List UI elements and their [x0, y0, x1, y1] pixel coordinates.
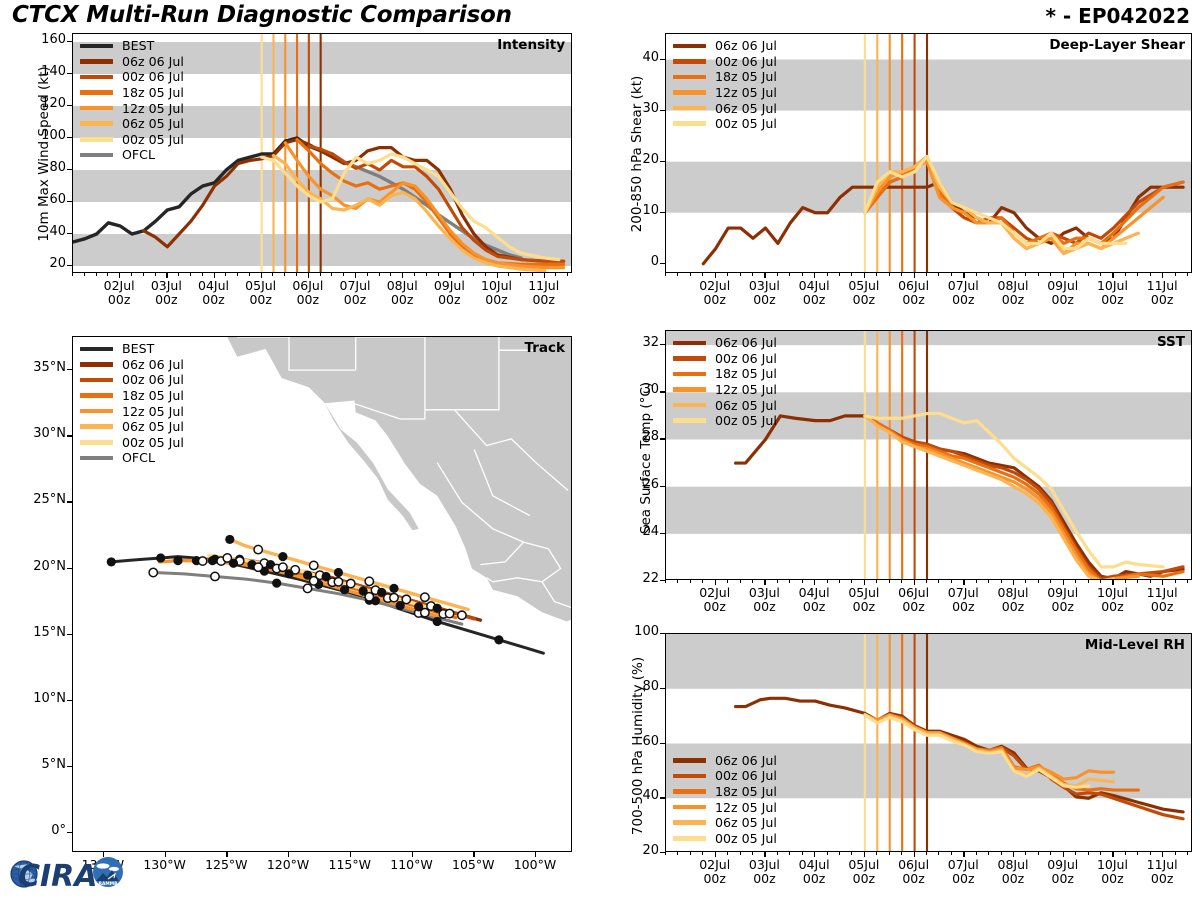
legend-label: BEST: [122, 38, 154, 53]
y-tick-label: 10: [619, 203, 659, 218]
x-minor-tick: [752, 852, 753, 855]
x-minor-tick: [864, 852, 865, 855]
legend-color-swatch: [80, 440, 113, 445]
x-minor-tick: [485, 273, 486, 276]
value-band: [73, 170, 572, 202]
legend-label: 12z 05 Jul: [122, 404, 184, 419]
x-minor-tick: [1187, 580, 1188, 583]
legend-item: 06z 05 Jul: [673, 100, 777, 116]
x-minor-tick: [320, 273, 321, 276]
x-tick-label: 11Jul00z: [1132, 279, 1192, 307]
x-minor-tick: [532, 273, 533, 276]
track-marker-00z: [173, 556, 182, 565]
legend-color-swatch: [673, 418, 706, 423]
legend-item: 00z 06 Jul: [80, 372, 184, 388]
legend-color-swatch: [673, 805, 706, 810]
legend-color-swatch: [80, 90, 113, 95]
x-minor-tick: [1175, 273, 1176, 276]
x-minor-tick: [131, 273, 132, 276]
x-minor-tick: [690, 273, 691, 276]
legend-item: 00z 06 Jul: [673, 768, 777, 784]
track-x-tick-mark: [288, 852, 289, 857]
x-minor-tick: [1187, 852, 1188, 855]
x-minor-tick: [951, 580, 952, 583]
x-minor-tick: [178, 273, 179, 276]
track-marker-12z: [310, 577, 318, 585]
x-minor-tick: [740, 273, 741, 276]
x-minor-tick: [839, 852, 840, 855]
legend-label: 12z 05 Jul: [715, 382, 777, 397]
legend-label: 00z 05 Jul: [715, 831, 777, 846]
legend-color-swatch: [673, 820, 706, 825]
legend-item: 18z 05 Jul: [673, 784, 777, 800]
track-x-tick-mark: [473, 852, 474, 857]
x-minor-tick: [1025, 580, 1026, 583]
x-minor-tick: [1162, 273, 1163, 276]
x-minor-tick: [926, 580, 927, 583]
x-minor-tick: [876, 580, 877, 583]
x-minor-tick: [390, 273, 391, 276]
panel-sst: SST 06z 06 Jul00z 06 Jul18z 05 Jul12z 05…: [665, 330, 1192, 580]
x-minor-tick: [827, 273, 828, 276]
x-minor-tick: [497, 273, 498, 276]
track-x-tick-mark: [165, 852, 166, 857]
legend-item: 18z 05 Jul: [673, 366, 777, 382]
y-tick-mark: [67, 201, 72, 202]
x-minor-tick: [237, 273, 238, 276]
track-x-tick-label: 100°W: [503, 858, 567, 872]
cira-wordmark: CIRA: [18, 859, 98, 894]
legend-color-swatch: [673, 789, 706, 794]
x-minor-tick: [1100, 580, 1101, 583]
x-minor-tick: [876, 273, 877, 276]
x-minor-tick: [851, 273, 852, 276]
legend-label: 00z 05 Jul: [122, 435, 184, 450]
y-tick-label: 40: [619, 50, 659, 65]
legend-item: 18z 05 Jul: [80, 85, 184, 101]
track-y-tick-mark: [67, 369, 72, 370]
x-tick-label: 11Jul00z: [514, 279, 574, 307]
x-minor-tick: [976, 273, 977, 276]
legend-item: 00z 05 Jul: [80, 132, 184, 148]
x-minor-tick: [814, 580, 815, 583]
x-minor-tick: [1050, 273, 1051, 276]
y-tick-mark: [660, 263, 665, 264]
y-tick-label: 30: [619, 382, 659, 397]
rh-title: Mid-Level RH: [1085, 637, 1185, 653]
y-tick-label: 26: [619, 477, 659, 492]
legend-label: 12z 05 Jul: [715, 800, 777, 815]
x-minor-tick: [777, 273, 778, 276]
x-minor-tick: [1013, 273, 1014, 276]
legend-label: 00z 06 Jul: [715, 768, 777, 783]
legend-color-swatch: [673, 387, 706, 392]
track-y-tick-label: 5°N: [20, 757, 66, 772]
track-y-tick-label: 10°N: [20, 691, 66, 706]
x-minor-tick: [1150, 852, 1151, 855]
x-minor-tick: [764, 852, 765, 855]
x-minor-tick: [889, 580, 890, 583]
legend-item: 06z 06 Jul: [80, 54, 184, 70]
x-minor-tick: [690, 580, 691, 583]
legend-label: 12z 05 Jul: [715, 85, 777, 100]
legend-color-swatch: [80, 362, 113, 367]
legend-color-swatch: [673, 403, 706, 408]
y-tick-mark: [660, 438, 665, 439]
track-marker-12z: [310, 561, 318, 569]
x-minor-tick: [889, 273, 890, 276]
x-minor-tick: [963, 580, 964, 583]
x-minor-tick: [988, 852, 989, 855]
x-minor-tick: [752, 273, 753, 276]
y-tick-label: 22: [619, 571, 659, 586]
legend-color-swatch: [673, 836, 706, 841]
legend-item: 06z 05 Jul: [673, 397, 777, 413]
legend-label: 06z 06 Jul: [122, 54, 184, 69]
x-minor-tick: [1075, 580, 1076, 583]
legend-item: 18z 05 Jul: [80, 388, 184, 404]
x-minor-tick: [1001, 852, 1002, 855]
track-marker-12z: [223, 554, 231, 562]
x-minor-tick: [1137, 852, 1138, 855]
shear-title: Deep-Layer Shear: [1049, 37, 1185, 53]
legend-label: BEST: [122, 341, 154, 356]
x-minor-tick: [764, 273, 765, 276]
y-tick-label: 160: [26, 32, 66, 47]
legend-label: 06z 05 Jul: [122, 419, 184, 434]
x-minor-tick: [864, 580, 865, 583]
x-minor-tick: [1025, 273, 1026, 276]
track-y-tick-label: 15°N: [20, 625, 66, 640]
track-marker-12z: [279, 563, 287, 571]
x-minor-tick: [963, 273, 964, 276]
legend-label: 00z 05 Jul: [122, 132, 184, 147]
y-tick-mark: [67, 105, 72, 106]
x-minor-tick: [343, 273, 344, 276]
track-marker-00z: [225, 535, 234, 544]
x-minor-tick: [988, 273, 989, 276]
track-x-tick-label: 120°W: [256, 858, 320, 872]
legend-label: OFCL: [122, 450, 155, 465]
legend-color-swatch: [80, 393, 113, 398]
track-marker-12z: [421, 608, 429, 616]
y-tick-mark: [660, 391, 665, 392]
legend-item: 06z 06 Jul: [673, 38, 777, 54]
legend-label: 06z 05 Jul: [715, 815, 777, 830]
track-y-tick-label: 0°: [20, 823, 66, 838]
legend-item: 06z 05 Jul: [80, 419, 184, 435]
x-minor-tick: [702, 852, 703, 855]
cira-logo: CIRA RAMMB: [4, 848, 130, 896]
legend-label: 06z 05 Jul: [715, 101, 777, 116]
x-tick-label: 11Jul00z: [1132, 586, 1192, 614]
legend-color-swatch: [673, 121, 706, 126]
y-tick-mark: [67, 169, 72, 170]
track-y-tick-mark: [67, 435, 72, 436]
y-tick-mark: [660, 533, 665, 534]
y-tick-label: 30: [619, 101, 659, 116]
track-y-tick-mark: [67, 634, 72, 635]
legend-item: 18z 05 Jul: [673, 69, 777, 85]
track-marker-00z: [278, 552, 287, 561]
x-tick-label: 11Jul00z: [1132, 858, 1192, 886]
legend-color-swatch: [80, 137, 113, 142]
x-minor-tick: [914, 852, 915, 855]
x-minor-tick: [544, 273, 545, 276]
x-minor-tick: [166, 273, 167, 276]
x-minor-tick: [702, 580, 703, 583]
y-tick-mark: [660, 59, 665, 60]
x-minor-tick: [914, 273, 915, 276]
y-tick-mark: [660, 486, 665, 487]
x-minor-tick: [802, 580, 803, 583]
legend-label: OFCL: [122, 147, 155, 162]
x-minor-tick: [355, 273, 356, 276]
x-minor-tick: [988, 580, 989, 583]
x-minor-tick: [727, 580, 728, 583]
legend-label: 18z 05 Jul: [122, 388, 184, 403]
x-minor-tick: [1137, 273, 1138, 276]
y-tick-label: 100: [26, 128, 66, 143]
x-minor-tick: [789, 852, 790, 855]
x-minor-tick: [814, 852, 815, 855]
track-marker-12z: [445, 609, 453, 617]
legend-color-swatch: [80, 347, 113, 352]
legend-label: 06z 05 Jul: [715, 398, 777, 413]
legend-label: 00z 06 Jul: [715, 351, 777, 366]
sst-legend: 06z 06 Jul00z 06 Jul18z 05 Jul12z 05 Jul…: [673, 335, 777, 429]
y-tick-label: 80: [26, 160, 66, 175]
track-marker-00z: [107, 557, 116, 566]
legend-label: 06z 06 Jul: [715, 38, 777, 53]
track-y-tick-mark: [67, 501, 72, 502]
track-y-tick-mark: [67, 568, 72, 569]
x-minor-tick: [107, 273, 108, 276]
x-minor-tick: [155, 273, 156, 276]
x-minor-tick: [1038, 273, 1039, 276]
y-tick-mark: [67, 73, 72, 74]
legend-label: 18z 05 Jul: [715, 784, 777, 799]
legend-color-swatch: [80, 409, 113, 414]
legend-item: 12z 05 Jul: [673, 85, 777, 101]
legend-label: 18z 05 Jul: [715, 366, 777, 381]
legend-label: 12z 05 Jul: [122, 101, 184, 116]
track-marker-12z: [390, 593, 398, 601]
legend-color-swatch: [673, 44, 706, 49]
x-minor-tick: [284, 273, 285, 276]
x-minor-tick: [1100, 273, 1101, 276]
x-minor-tick: [1088, 852, 1089, 855]
y-tick-label: 20: [619, 152, 659, 167]
x-minor-tick: [1050, 580, 1051, 583]
x-minor-tick: [202, 273, 203, 276]
legend-item: 06z 06 Jul: [80, 357, 184, 373]
y-tick-mark: [660, 344, 665, 345]
x-minor-tick: [1075, 273, 1076, 276]
x-minor-tick: [802, 852, 803, 855]
track-y-tick-label: 35°N: [20, 360, 66, 375]
x-minor-tick: [1063, 580, 1064, 583]
x-minor-tick: [1025, 852, 1026, 855]
y-tick-mark: [660, 743, 665, 744]
x-minor-tick: [690, 852, 691, 855]
x-minor-tick: [1125, 580, 1126, 583]
x-minor-tick: [473, 273, 474, 276]
legend-item: BEST: [80, 38, 184, 54]
x-minor-tick: [438, 273, 439, 276]
intensity-legend: BEST06z 06 Jul00z 06 Jul18z 05 Jul12z 05…: [80, 38, 184, 163]
svg-text:RAMMB: RAMMB: [99, 881, 119, 887]
x-minor-tick: [190, 273, 191, 276]
x-minor-tick: [1175, 580, 1176, 583]
legend-item: 06z 05 Jul: [80, 116, 184, 132]
x-minor-tick: [677, 273, 678, 276]
y-tick-mark: [660, 212, 665, 213]
x-minor-tick: [1038, 852, 1039, 855]
legend-color-swatch: [80, 106, 113, 111]
x-minor-tick: [752, 580, 753, 583]
x-minor-tick: [1112, 580, 1113, 583]
x-minor-tick: [520, 273, 521, 276]
x-minor-tick: [1137, 580, 1138, 583]
x-minor-tick: [827, 852, 828, 855]
legend-item: 00z 05 Jul: [80, 435, 184, 451]
x-minor-tick: [665, 580, 666, 583]
y-tick-mark: [67, 137, 72, 138]
x-minor-tick: [727, 273, 728, 276]
track-marker-00z: [389, 584, 398, 593]
x-minor-tick: [777, 852, 778, 855]
legend-label: 00z 05 Jul: [715, 116, 777, 131]
x-minor-tick: [715, 273, 716, 276]
y-tick-mark: [660, 161, 665, 162]
track-marker-12z: [421, 593, 429, 601]
track-x-tick-label: 125°W: [194, 858, 258, 872]
legend-color-swatch: [80, 153, 113, 158]
x-minor-tick: [1100, 852, 1101, 855]
x-minor-tick: [367, 273, 368, 276]
legend-color-swatch: [80, 75, 113, 80]
storm-id-label: * - EP042022: [1045, 4, 1190, 28]
rh-legend: 06z 06 Jul00z 06 Jul18z 05 Jul12z 05 Jul…: [673, 752, 777, 846]
x-minor-tick: [1001, 580, 1002, 583]
y-tick-label: 20: [619, 843, 659, 858]
y-tick-label: 40: [26, 224, 66, 239]
x-minor-tick: [1038, 580, 1039, 583]
legend-color-swatch: [673, 341, 706, 346]
x-minor-tick: [914, 580, 915, 583]
y-tick-mark: [67, 265, 72, 266]
track-x-tick-label: 115°W: [318, 858, 382, 872]
track-marker-00z: [272, 578, 281, 587]
x-minor-tick: [1013, 852, 1014, 855]
y-tick-label: 100: [619, 624, 659, 639]
legend-color-swatch: [673, 356, 706, 361]
legend-color-swatch: [673, 106, 706, 111]
x-minor-tick: [764, 580, 765, 583]
y-tick-label: 24: [619, 524, 659, 539]
y-tick-mark: [67, 233, 72, 234]
x-minor-tick: [555, 273, 556, 276]
track-y-tick-label: 25°N: [20, 492, 66, 507]
x-minor-tick: [864, 273, 865, 276]
legend-color-swatch: [80, 121, 113, 126]
x-minor-tick: [876, 852, 877, 855]
legend-item: 00z 06 Jul: [673, 54, 777, 70]
track-x-tick-label: 130°W: [133, 858, 197, 872]
x-minor-tick: [802, 273, 803, 276]
x-minor-tick: [926, 852, 927, 855]
legend-label: 00z 06 Jul: [122, 69, 184, 84]
x-minor-tick: [715, 580, 716, 583]
x-minor-tick: [901, 852, 902, 855]
y-tick-label: 0: [619, 254, 659, 269]
y-tick-mark: [660, 110, 665, 111]
x-minor-tick: [1112, 852, 1113, 855]
x-minor-tick: [296, 273, 297, 276]
legend-item: 00z 06 Jul: [80, 69, 184, 85]
x-minor-tick: [702, 273, 703, 276]
x-minor-tick: [901, 580, 902, 583]
track-marker-00z: [156, 553, 165, 562]
x-minor-tick: [963, 852, 964, 855]
legend-item: OFCL: [80, 147, 184, 163]
legend-color-swatch: [673, 59, 706, 64]
x-minor-tick: [777, 580, 778, 583]
x-minor-tick: [225, 273, 226, 276]
x-minor-tick: [677, 580, 678, 583]
y-tick-label: 140: [26, 64, 66, 79]
legend-item: 00z 05 Jul: [673, 116, 777, 132]
track-marker-12z: [458, 611, 466, 619]
x-minor-tick: [740, 852, 741, 855]
legend-item: 06z 06 Jul: [673, 752, 777, 768]
x-minor-tick: [1063, 273, 1064, 276]
legend-color-swatch: [80, 59, 113, 64]
x-minor-tick: [1013, 580, 1014, 583]
legend-item: 00z 05 Jul: [673, 413, 777, 429]
legend-item: OFCL: [80, 450, 184, 466]
x-minor-tick: [1162, 852, 1163, 855]
track-marker-00z: [340, 585, 349, 594]
track-marker-00z: [396, 601, 405, 610]
x-minor-tick: [1050, 852, 1051, 855]
x-minor-tick: [951, 273, 952, 276]
x-minor-tick: [96, 273, 97, 276]
y-tick-label: 28: [619, 429, 659, 444]
legend-label: 00z 06 Jul: [715, 54, 777, 69]
legend-color-swatch: [673, 90, 706, 95]
x-minor-tick: [1150, 273, 1151, 276]
x-minor-tick: [249, 273, 250, 276]
x-minor-tick: [72, 273, 73, 276]
x-minor-tick: [889, 852, 890, 855]
x-minor-tick: [426, 273, 427, 276]
political-border: [406, 489, 431, 496]
legend-color-swatch: [80, 424, 113, 429]
x-minor-tick: [461, 273, 462, 276]
track-marker-12z: [334, 578, 342, 586]
x-minor-tick: [449, 273, 450, 276]
track-title: Track: [525, 340, 565, 356]
x-minor-tick: [567, 273, 568, 276]
legend-item: 00z 05 Jul: [673, 830, 777, 846]
track-x-tick-label: 110°W: [380, 858, 444, 872]
x-minor-tick: [727, 852, 728, 855]
x-minor-tick: [839, 273, 840, 276]
x-minor-tick: [665, 852, 666, 855]
x-minor-tick: [1187, 273, 1188, 276]
